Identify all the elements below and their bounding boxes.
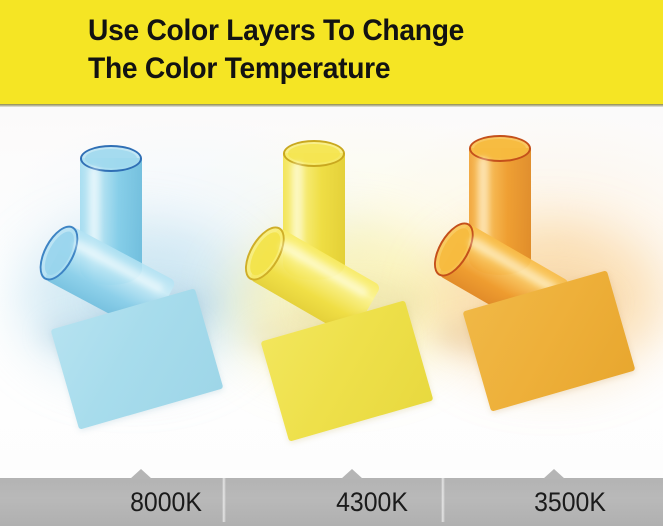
pointer-marker-blue bbox=[130, 469, 152, 479]
temperature-bar: 8000K 4300K 3500K bbox=[0, 478, 663, 526]
poster-root: Use Color Layers To Change The Color Tem… bbox=[0, 0, 663, 526]
product-photo-stage bbox=[0, 107, 663, 478]
pointer-marker-yellow bbox=[341, 469, 363, 479]
temperature-label-4300k: 4300K bbox=[280, 484, 464, 520]
cylinder-bore bbox=[288, 144, 340, 163]
cylinder-bore bbox=[85, 149, 137, 168]
page-title: Use Color Layers To Change The Color Tem… bbox=[88, 12, 577, 88]
title-banner: Use Color Layers To Change The Color Tem… bbox=[0, 0, 663, 104]
cylinder-bore bbox=[474, 139, 526, 158]
color-sheet-blue bbox=[51, 288, 224, 429]
pointer-marker-amber bbox=[543, 469, 565, 479]
color-sheet-yellow bbox=[261, 300, 434, 441]
temperature-label-8000k: 8000K bbox=[74, 484, 258, 520]
temperature-label-3500k: 3500K bbox=[478, 484, 662, 520]
